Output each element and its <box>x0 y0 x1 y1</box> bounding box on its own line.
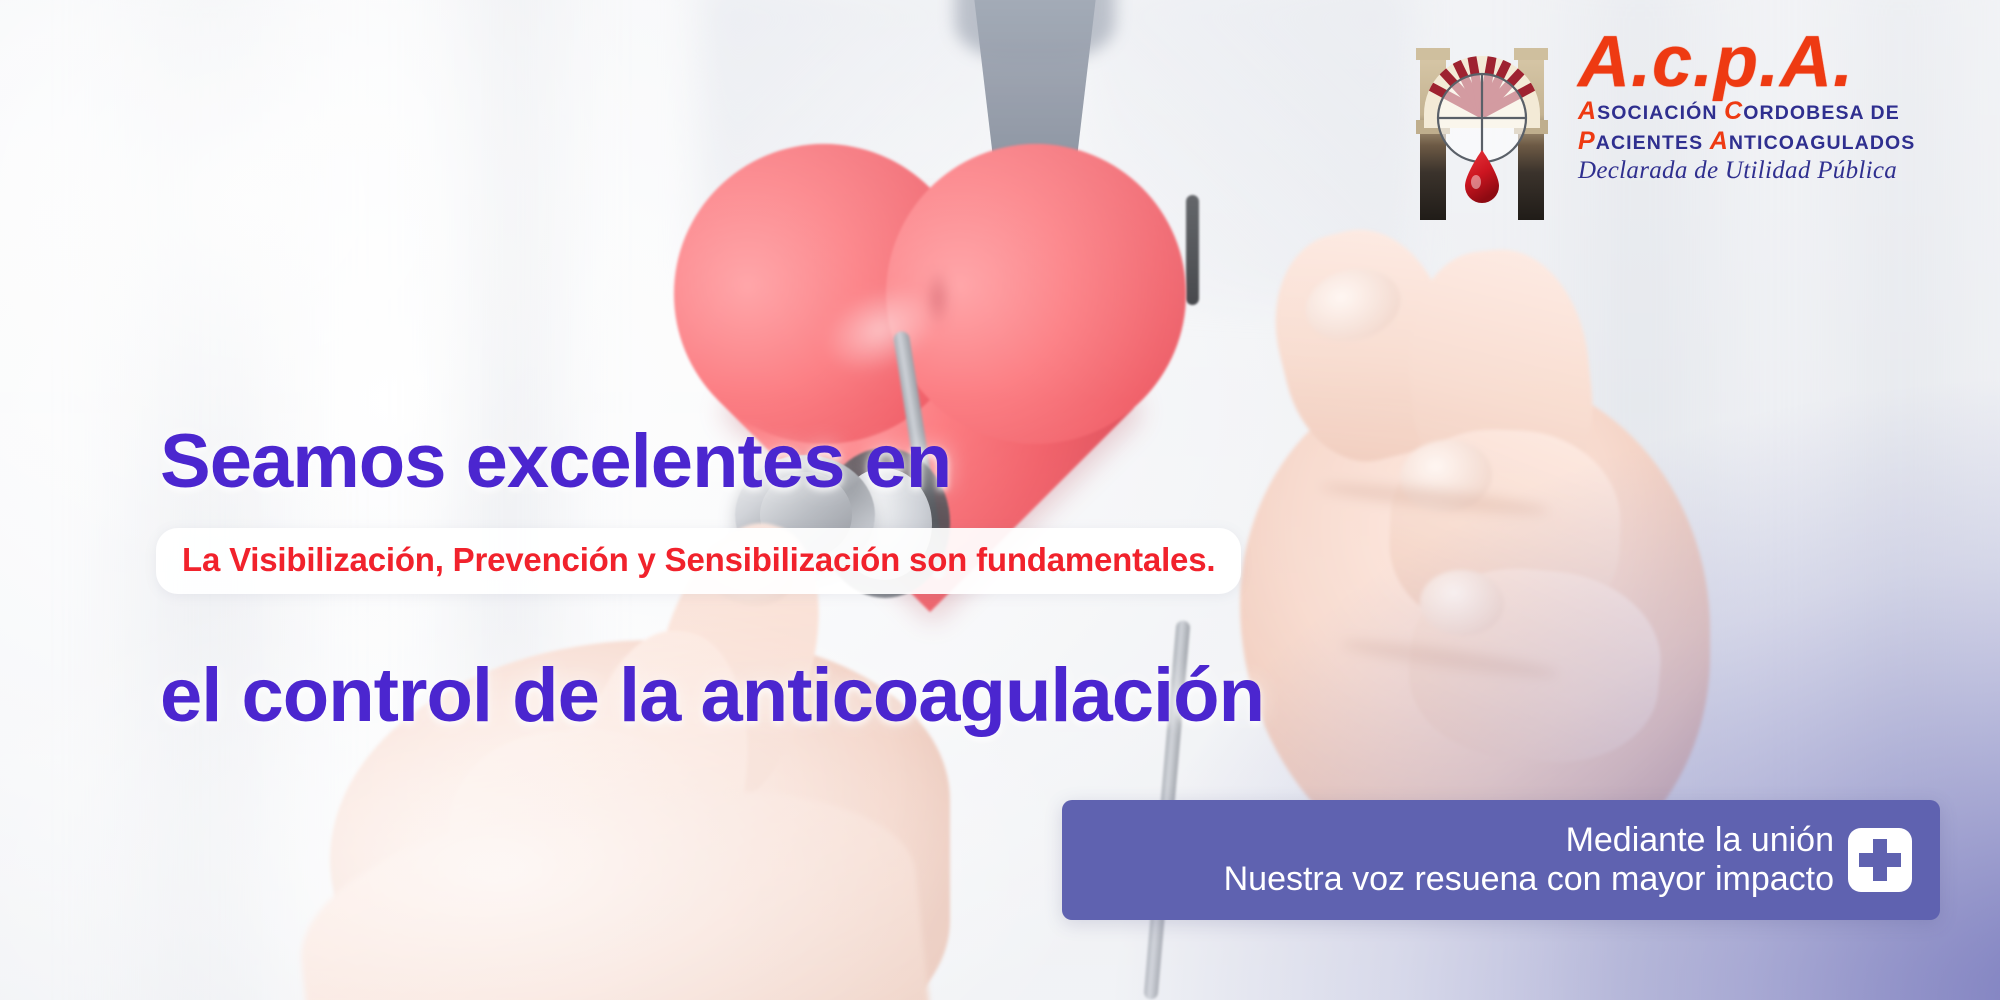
headline-line-1: Seamos excelentes en <box>160 424 1264 500</box>
logo-line-1-rest2: ORDOBESA DE <box>1743 102 1900 124</box>
callout-text: Mediante la unión Nuestra voz resuena co… <box>1224 821 1848 900</box>
logo-line-2: PACIENTES ANTICOAGULADOS <box>1578 127 1998 157</box>
logo-line-1-rest: SOCIACIÓN <box>1597 102 1724 124</box>
logo-tagline: Declarada de Utilidad Pública <box>1578 157 1998 185</box>
logo-line-2-rest: ACIENTES <box>1596 132 1710 154</box>
acpa-logo: A.c.p.A. ASOCIACIÓN CORDOBESA DE PACIENT… <box>1392 32 1992 197</box>
cordoba-arch-blood-drop-emblem <box>1392 32 1572 222</box>
acpa-campaign-banner: Seamos excelentes en el control de la an… <box>0 0 2000 1000</box>
logo-acronym: A.c.p.A. <box>1578 28 1998 97</box>
subtitle-text: La Visibilización, Prevención y Sensibil… <box>182 541 1215 578</box>
headline-line-2: el control de la anticoagulación <box>160 658 1264 734</box>
callout-box: Mediante la unión Nuestra voz resuena co… <box>1062 800 1940 920</box>
callout-line-2: Nuestra voz resuena con mayor impacto <box>1224 860 1834 899</box>
logo-initial-p: P <box>1578 127 1596 155</box>
emblem-svg <box>1392 32 1572 222</box>
subtitle-bar: La Visibilización, Prevención y Sensibil… <box>156 528 1241 594</box>
callout-line-1: Mediante la unión <box>1224 821 1834 860</box>
logo-wordmark: A.c.p.A. ASOCIACIÓN CORDOBESA DE PACIENT… <box>1578 28 1998 185</box>
medical-cross-icon <box>1848 828 1912 892</box>
logo-initial-a2: A <box>1710 127 1729 155</box>
logo-line-1: ASOCIACIÓN CORDOBESA DE <box>1578 97 1998 127</box>
logo-initial-a: A <box>1578 97 1597 125</box>
logo-initial-c: C <box>1724 97 1743 125</box>
logo-line-2-rest2: NTICOAGULADOS <box>1729 132 1916 154</box>
